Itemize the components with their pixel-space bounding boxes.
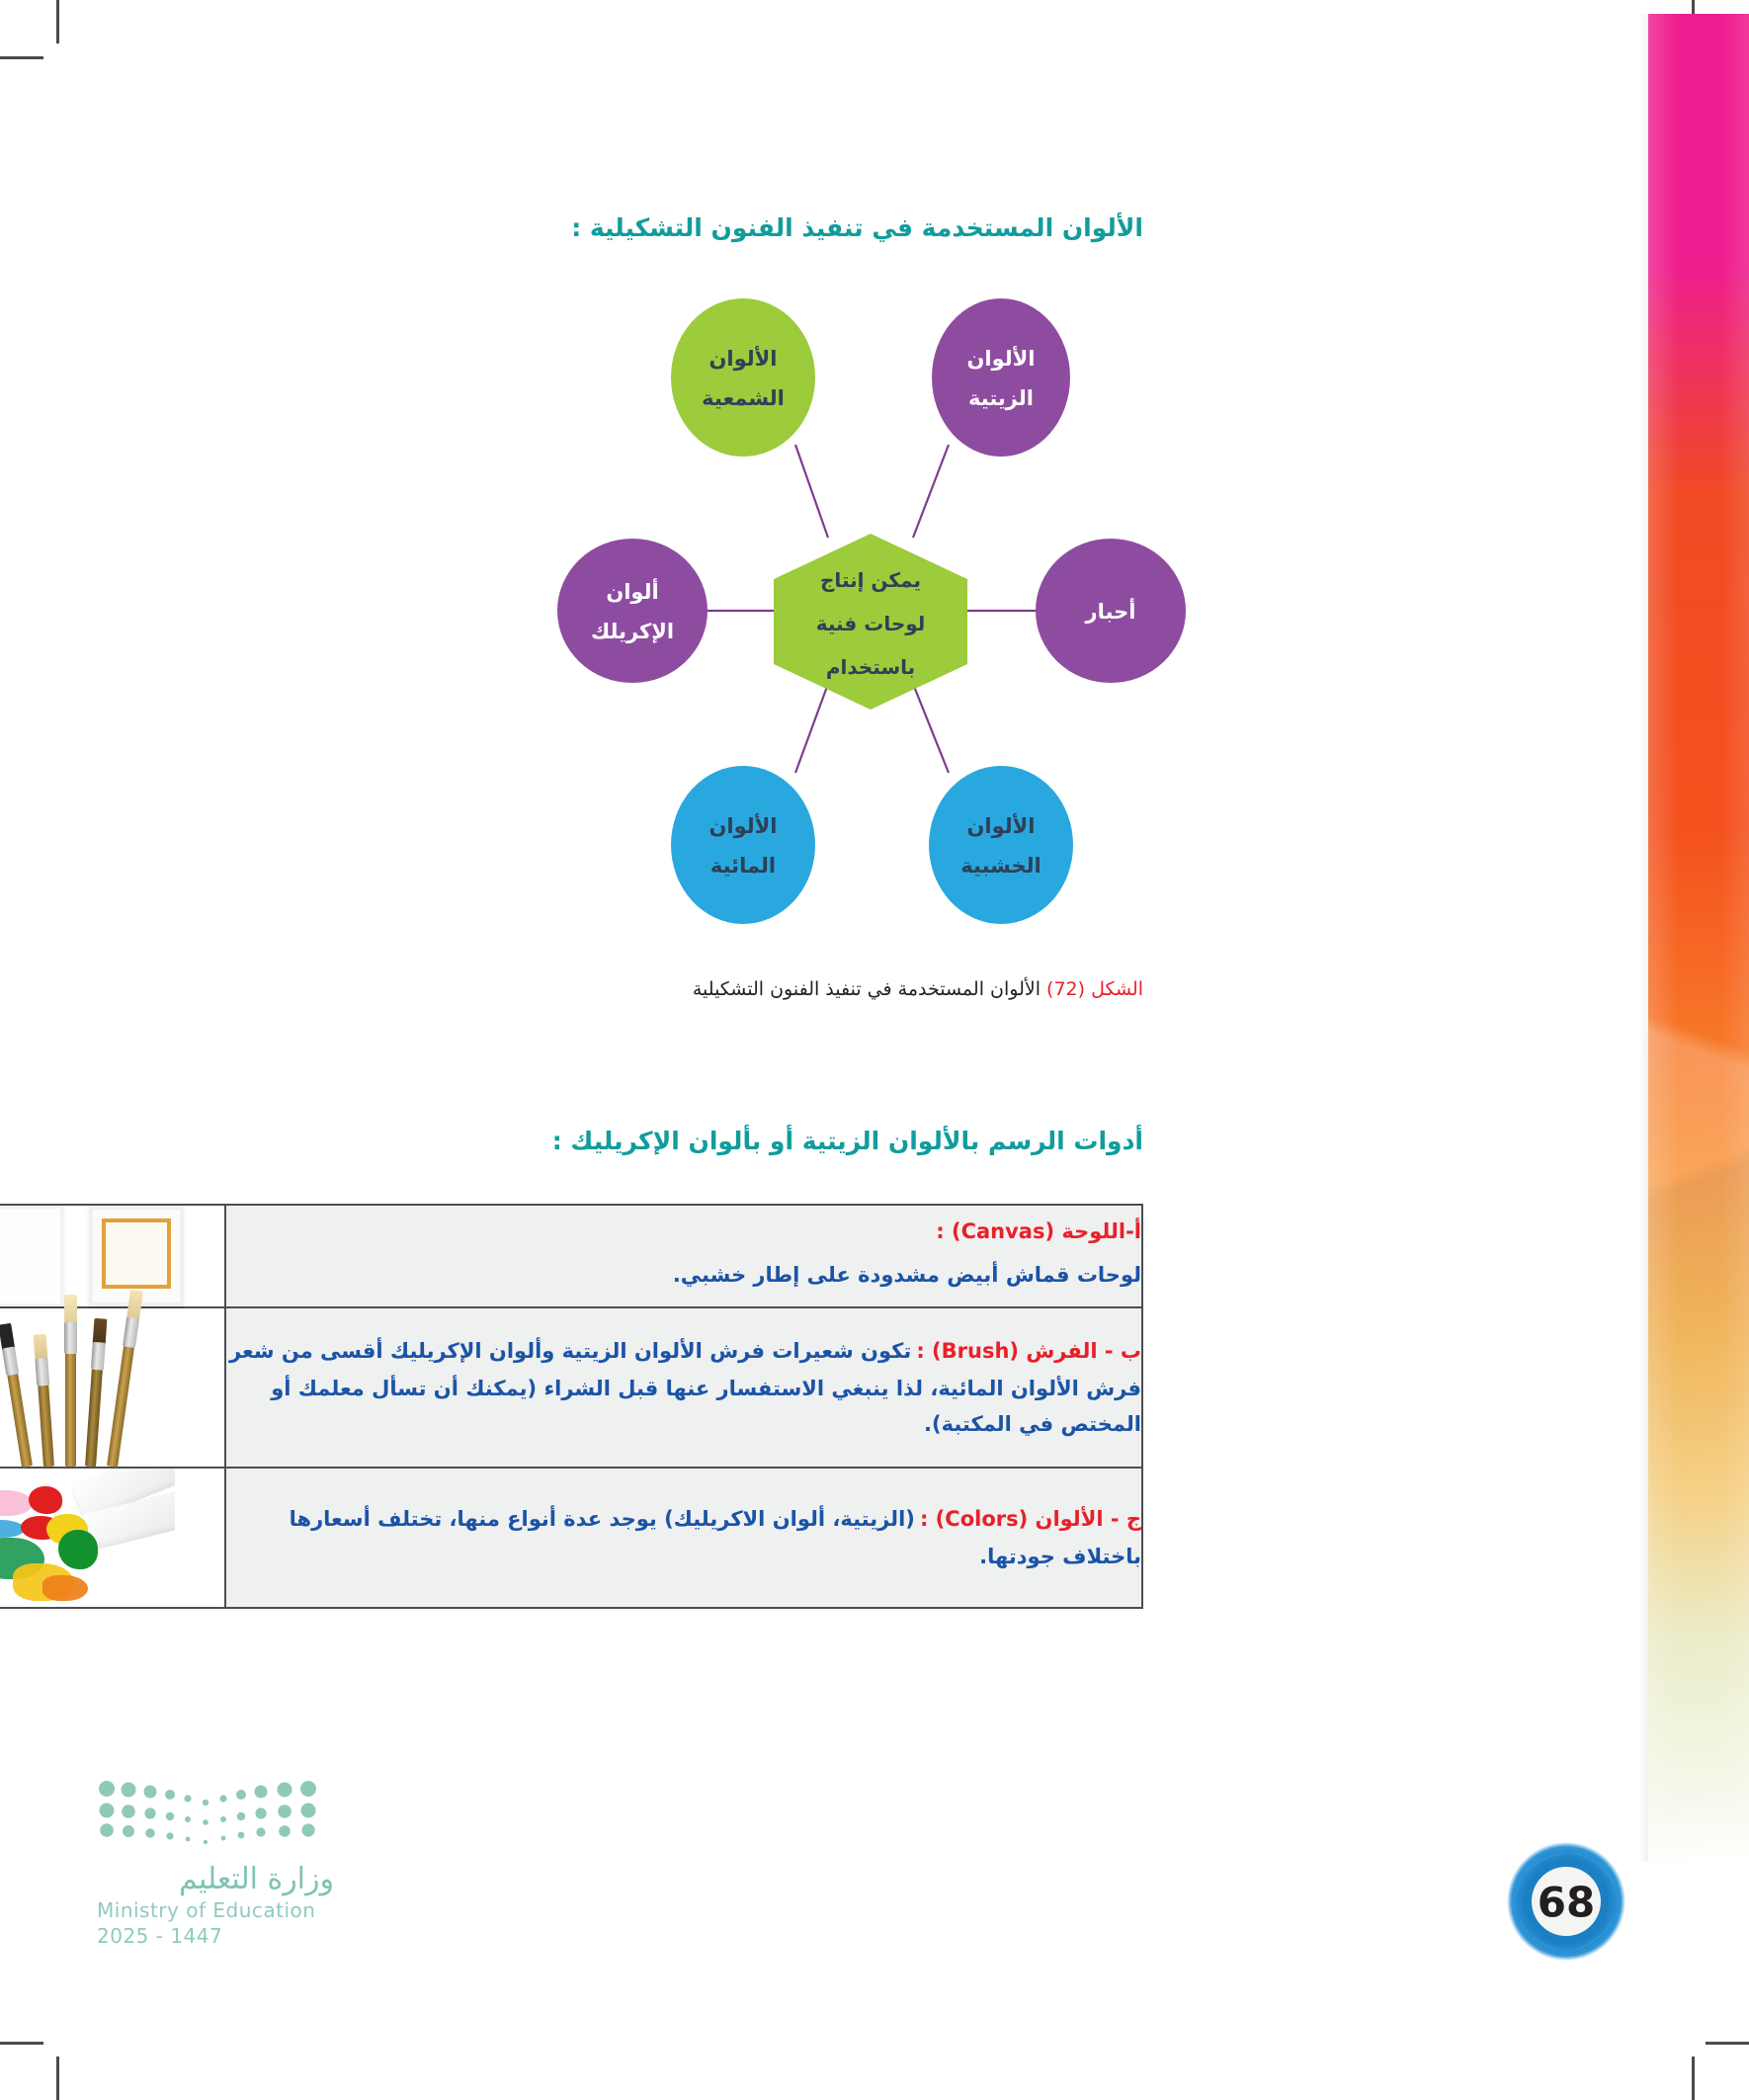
acrylic-node-line-2: الإكريلك — [591, 620, 674, 643]
wood-node-line-2: الخشبية — [960, 854, 1041, 878]
ministry-years: 2025 - 1447 — [97, 1924, 334, 1948]
paint-smear-pink — [0, 1490, 33, 1516]
connector-to-water — [795, 684, 828, 773]
acrylic-node-line-1: ألوان — [606, 577, 658, 604]
oil-node-shape — [932, 298, 1070, 457]
logo-dot-pattern-icon — [97, 1779, 322, 1850]
diagram-node-acrylic: ألوان الإكريلك — [557, 539, 708, 683]
brush-item — [107, 1344, 134, 1467]
page-number-badge: 68 — [1505, 1840, 1627, 1963]
crop-mark-bottom-left-horizontal — [0, 2042, 43, 2045]
diagram-node-wax: الألوان الشمعية — [671, 298, 815, 457]
wax-node-line-1: الألوان — [708, 345, 777, 371]
brush-item — [38, 1384, 54, 1468]
decorative-band-shadow — [1638, 14, 1648, 1862]
table-row: أ-اللوحة (Canvas) : لوحات قماش أبيض مشدو… — [0, 1205, 1142, 1307]
page-title: الألوان المستخدمة في تنفيذ الفنون التشكي… — [571, 213, 1143, 242]
tools-table: أ-اللوحة (Canvas) : لوحات قماش أبيض مشدو… — [0, 1204, 1143, 1609]
diagram-node-wood: الألوان الخشبية — [929, 766, 1073, 924]
colors-row-title: ج - الألوان (Colors) : — [920, 1507, 1141, 1531]
paint-brushes-photo — [0, 1308, 170, 1467]
ministry-of-education-logo: وزارة التعليم Ministry of Education 2025… — [97, 1779, 334, 1948]
table-row: ب - الفرش (Brush) : تكون شعيرات فرش الأل… — [0, 1307, 1142, 1468]
canvas-board-plain — [0, 1206, 63, 1306]
paint-blob-green — [58, 1530, 98, 1569]
hexagon-line-2: لوحات فنية — [816, 612, 926, 635]
figure-label: الشكل (72) — [1046, 978, 1143, 1000]
hexagon-line-3: باستخدام — [826, 655, 915, 679]
brush-bristle — [34, 1334, 48, 1361]
connector-to-oil — [913, 445, 949, 538]
connector-to-wood — [913, 684, 949, 773]
acrylic-node-shape — [557, 539, 708, 683]
water-node-line-2: المائية — [710, 854, 776, 878]
diagram-node-oil: الألوان الزيتية — [932, 298, 1070, 457]
ministry-name-english: Ministry of Education — [97, 1898, 334, 1922]
canvas-boards-photo — [0, 1206, 224, 1306]
brush-ferrule — [2, 1346, 19, 1376]
brush-handle — [38, 1384, 54, 1468]
brush-handle — [107, 1344, 134, 1467]
wax-node-shape — [671, 298, 815, 457]
water-node-shape — [671, 766, 815, 924]
crop-mark-top-left-horizontal — [0, 56, 43, 59]
brush-bristle — [93, 1318, 108, 1345]
brush-image-cell — [0, 1307, 225, 1468]
brush-ferrule — [123, 1317, 139, 1349]
crop-mark-bottom-left-vertical — [56, 2057, 59, 2100]
colors-description-cell: ج - الألوان (Colors) : (الزيتية، ألوان ا… — [225, 1468, 1142, 1608]
figure-caption: الشكل (72) الألوان المستخدمة في تنفيذ ال… — [693, 978, 1143, 1000]
wax-node-line-2: الشمعية — [702, 386, 785, 410]
wood-node-line-1: الألوان — [966, 812, 1035, 838]
diagram-node-water: الألوان المائية — [671, 766, 815, 924]
canvas-row-title: أ-اللوحة (Canvas) : — [936, 1219, 1141, 1243]
brush-item — [65, 1352, 76, 1467]
crop-mark-bottom-right-horizontal — [1706, 2042, 1749, 2045]
canvas-description-cell: أ-اللوحة (Canvas) : لوحات قماش أبيض مشدو… — [225, 1205, 1142, 1307]
brush-handle — [85, 1368, 103, 1468]
paint-smear-orange — [42, 1575, 88, 1601]
brush-ferrule — [35, 1358, 49, 1386]
diagram-node-ink: أحبار — [1036, 539, 1186, 683]
table-row: ج - الألوان (Colors) : (الزيتية، ألوان ا… — [0, 1468, 1142, 1608]
paint-blob-red-upper — [29, 1486, 62, 1514]
connector-to-wax — [795, 445, 828, 538]
brush-item — [85, 1368, 103, 1468]
band-gloss — [1648, 14, 1749, 1862]
colors-mindmap-diagram: يمكن إنتاج لوحات فنية باستخدام الألوان ا… — [514, 296, 1225, 929]
crop-mark-bottom-right-vertical — [1692, 2057, 1695, 2100]
decorative-gradient-band — [1648, 14, 1749, 1862]
crop-mark-top-left-vertical — [56, 0, 59, 43]
page-number-text: 68 — [1538, 1879, 1595, 1927]
diagram-center-hexagon: يمكن إنتاج لوحات فنية باستخدام — [774, 534, 967, 710]
hexagon-line-1: يمكن إنتاج — [820, 568, 921, 592]
brush-description-cell: ب - الفرش (Brush) : تكون شعيرات فرش الأل… — [225, 1307, 1142, 1468]
oil-node-line-2: الزيتية — [968, 386, 1034, 410]
ink-node-line-1: أحبار — [1085, 597, 1136, 624]
figure-caption-text: الألوان المستخدمة في تنفيذ الفنون التشكي… — [693, 978, 1041, 1000]
oil-node-line-1: الألوان — [966, 345, 1035, 371]
paint-tubes-photo — [0, 1469, 175, 1607]
water-node-line-1: الألوان — [708, 812, 777, 838]
canvas-image-cell — [0, 1205, 225, 1307]
brush-handle — [7, 1372, 33, 1468]
ministry-name-arabic: وزارة التعليم — [97, 1862, 334, 1896]
section-title-tools: أدوات الرسم بالألوان الزيتية أو بألوان ا… — [552, 1127, 1143, 1155]
brush-item — [7, 1372, 33, 1468]
brush-ferrule — [64, 1322, 77, 1354]
brush-row-title: ب - الفرش (Brush) : — [916, 1339, 1141, 1363]
colors-image-cell — [0, 1468, 225, 1608]
wood-node-shape — [929, 766, 1073, 924]
canvas-row-body: لوحات قماش أبيض مشدودة على إطار خشبي. — [226, 1257, 1141, 1294]
brush-handle — [65, 1352, 76, 1467]
brush-ferrule — [91, 1342, 106, 1371]
